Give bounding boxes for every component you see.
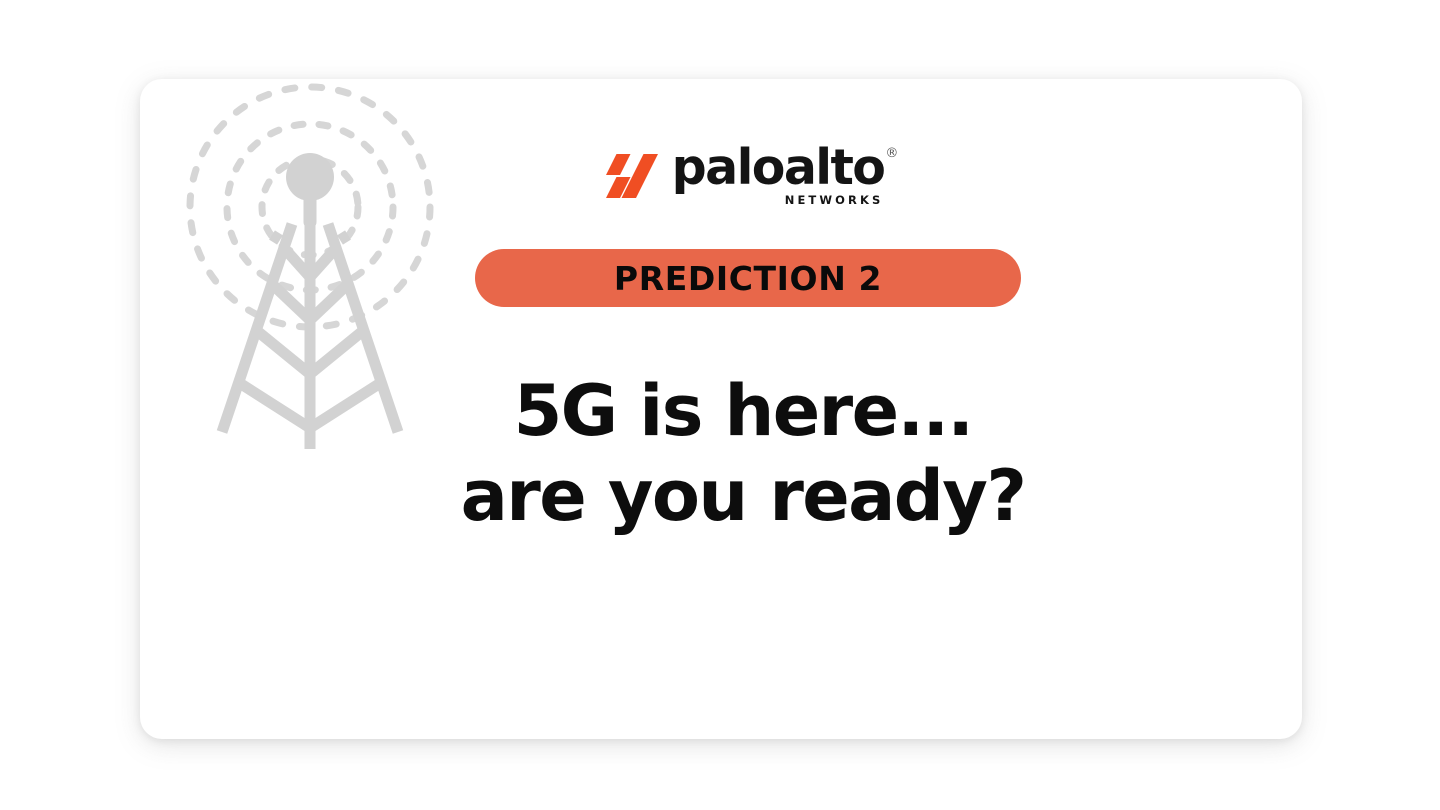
slide-canvas: paloalto ® NETWORKS PREDICTION 2 5G is h… (0, 0, 1440, 810)
headline-line-2: are you ready? (162, 454, 1302, 539)
registered-trademark-icon: ® (885, 147, 898, 160)
paloalto-logo-mark-icon (606, 154, 658, 198)
headline-line-1: 5G is here... (162, 369, 1302, 454)
headline: 5G is here... are you ready? (162, 369, 1302, 540)
prediction-badge: PREDICTION 2 (475, 249, 1021, 307)
logo-wordmark: paloalto (672, 145, 885, 192)
prediction-badge-row: PREDICTION 2 (140, 249, 1302, 307)
slide-card: paloalto ® NETWORKS PREDICTION 2 5G is h… (140, 79, 1302, 739)
paloalto-networks-logo: paloalto ® NETWORKS (140, 145, 1302, 207)
prediction-badge-label: PREDICTION 2 (614, 259, 882, 298)
